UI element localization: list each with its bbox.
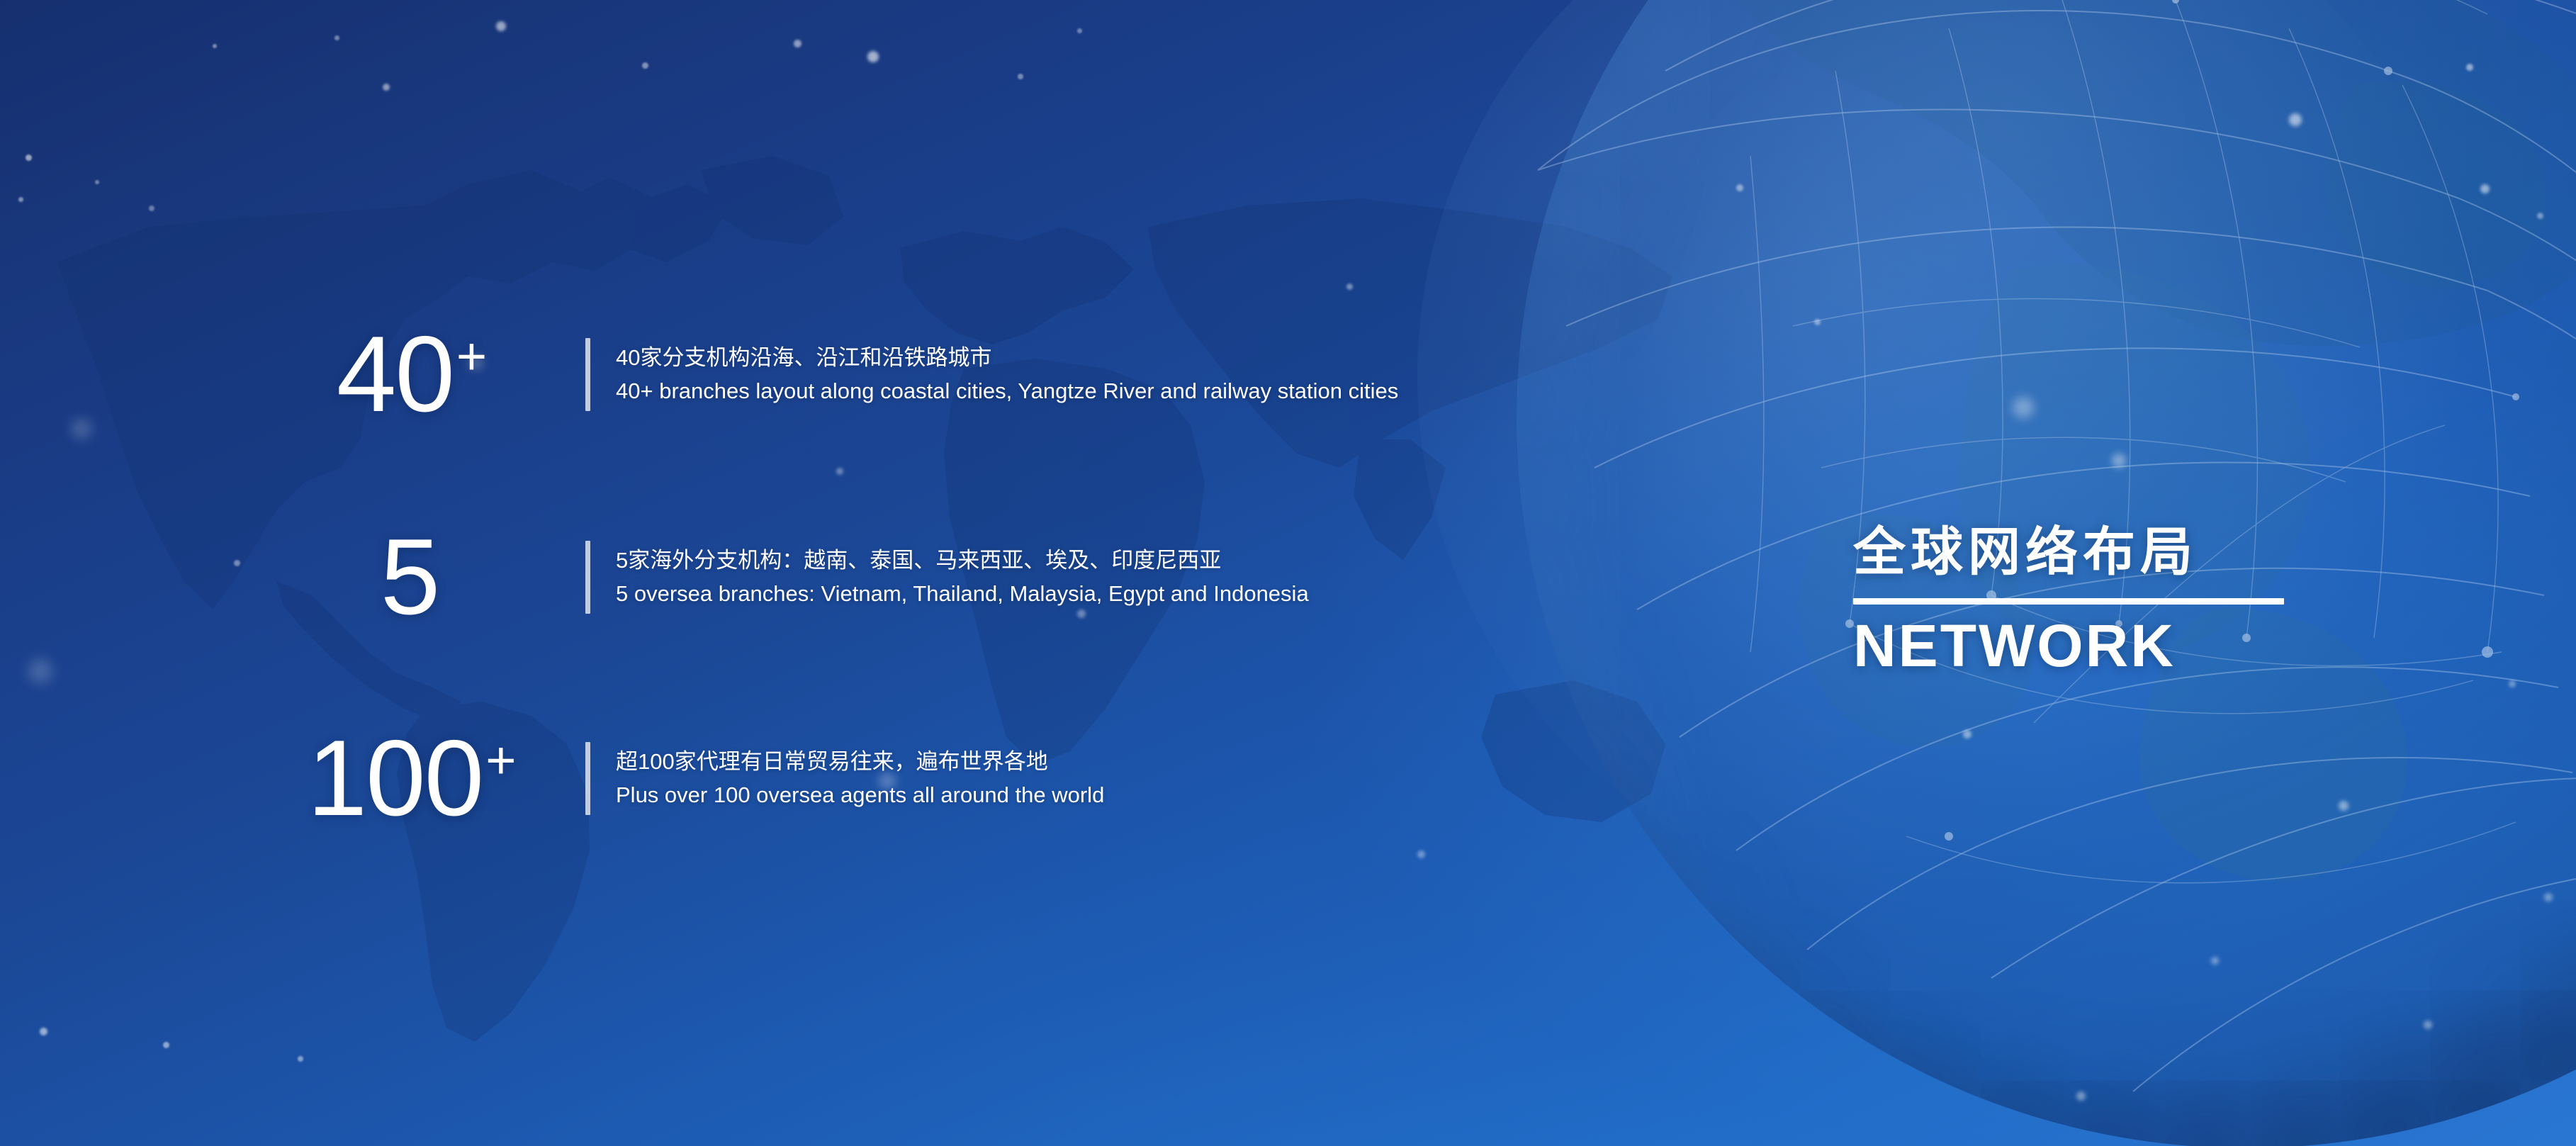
stat-number: 40+ xyxy=(241,320,581,428)
stat-text-en: 5 oversea branches: Vietnam, Thailand, M… xyxy=(616,580,1309,607)
stat-number-value: 5 xyxy=(381,523,439,631)
stat-number-value: 40 xyxy=(337,320,454,428)
title-underline-rule xyxy=(1853,598,2284,605)
stat-text-en: Plus over 100 oversea agents all around … xyxy=(616,782,1104,809)
stat-row: 100+ 超100家代理有日常贸易往来，遍布世界各地 Plus over 100… xyxy=(241,724,1104,832)
stat-row: 40+ 40家分支机构沿海、沿江和沿铁路城市 40+ branches layo… xyxy=(241,320,1398,428)
stat-number: 5 xyxy=(241,523,581,631)
stat-divider xyxy=(585,541,590,614)
section-title-cn: 全球网络布局 xyxy=(1853,524,2307,580)
stat-row: 5 5家海外分支机构：越南、泰国、马来西亚、埃及、印度尼西亚 5 oversea… xyxy=(241,523,1309,631)
stat-number-value: 100 xyxy=(308,724,483,832)
stat-number-suffix: + xyxy=(456,330,485,383)
network-banner: 40+ 40家分支机构沿海、沿江和沿铁路城市 40+ branches layo… xyxy=(0,0,2576,1146)
stat-text-en: 40+ branches layout along coastal cities… xyxy=(616,378,1398,405)
stat-number-suffix: + xyxy=(485,734,514,787)
stat-divider xyxy=(585,338,590,411)
stat-number: 100+ xyxy=(241,724,581,832)
section-title-en: NETWORK xyxy=(1853,614,2307,678)
stat-divider xyxy=(585,742,590,815)
stat-text-cn: 5家海外分支机构：越南、泰国、马来西亚、埃及、印度尼西亚 xyxy=(616,547,1309,574)
section-title-block: 全球网络布局 NETWORK xyxy=(1853,524,2307,678)
stat-text: 5家海外分支机构：越南、泰国、马来西亚、埃及、印度尼西亚 5 oversea b… xyxy=(616,547,1309,607)
stats-list: 40+ 40家分支机构沿海、沿江和沿铁路城市 40+ branches layo… xyxy=(0,0,1736,1146)
stat-text: 40家分支机构沿海、沿江和沿铁路城市 40+ branches layout a… xyxy=(616,344,1398,405)
stat-text-cn: 40家分支机构沿海、沿江和沿铁路城市 xyxy=(616,344,1398,371)
stat-text-cn: 超100家代理有日常贸易往来，遍布世界各地 xyxy=(616,748,1104,775)
stat-text: 超100家代理有日常贸易往来，遍布世界各地 Plus over 100 over… xyxy=(616,748,1104,809)
